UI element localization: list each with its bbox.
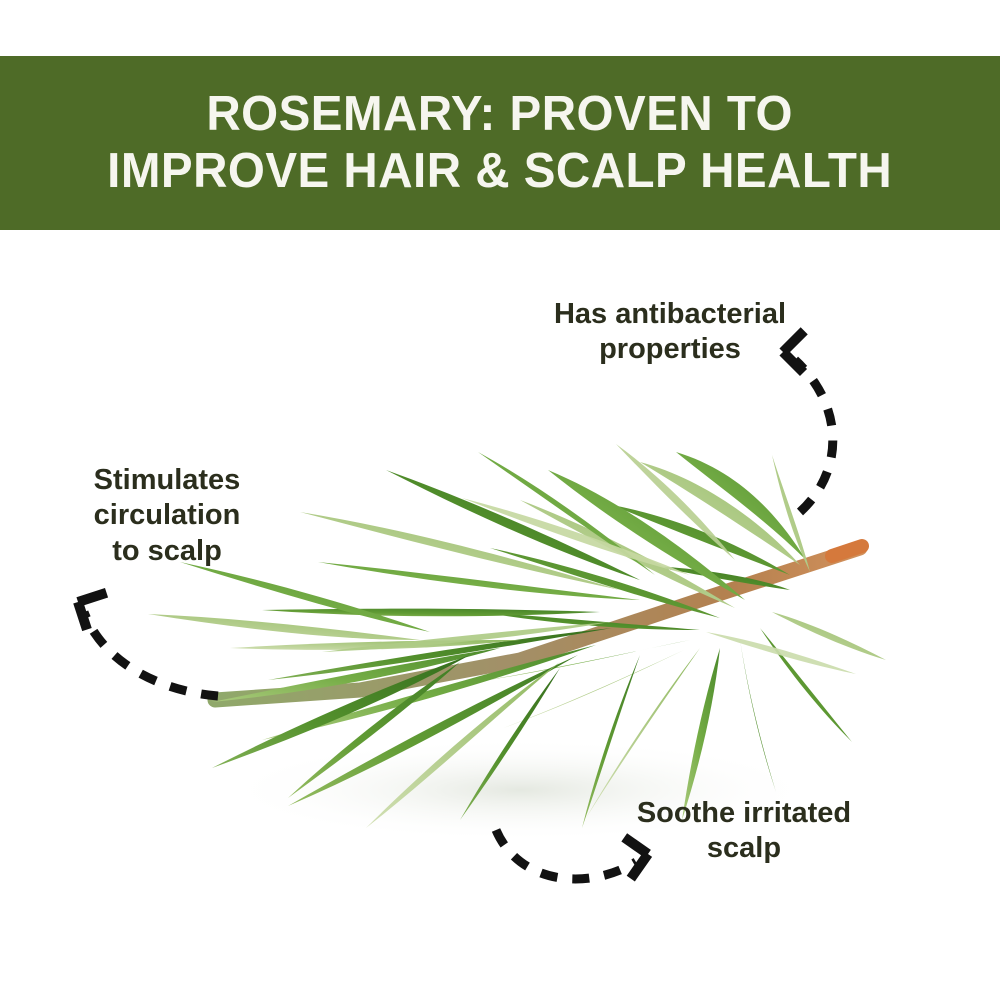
callout-soothe: Soothe irritated scalp: [594, 796, 894, 867]
callout-circulation: Stimulates circulation to scalp: [52, 463, 282, 569]
callout-antibacterial: Has antibacterial properties: [500, 297, 840, 368]
infographic-canvas: ROSEMARY: PROVEN TO IMPROVE HAIR & SCALP…: [0, 0, 1000, 1000]
